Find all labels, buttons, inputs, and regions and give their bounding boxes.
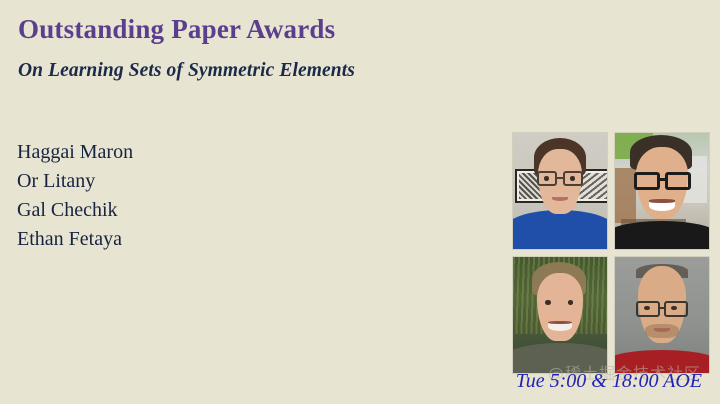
author-name: Or Litany: [17, 167, 133, 196]
author-name: Ethan Fetaya: [17, 225, 133, 254]
author-name: Haggai Maron: [17, 138, 133, 167]
page-title: Outstanding Paper Awards: [18, 14, 335, 45]
paper-title: On Learning Sets of Symmetric Elements: [18, 60, 355, 82]
session-time: Tue 5:00 & 18:00 AOE: [0, 370, 702, 393]
author-photo: [512, 256, 608, 374]
author-photo: [614, 132, 710, 250]
author-list: Haggai Maron Or Litany Gal Chechik Ethan…: [17, 138, 133, 254]
author-photo-grid: [512, 132, 706, 366]
author-photo: [614, 256, 710, 374]
author-name: Gal Chechik: [17, 196, 133, 225]
author-photo: [512, 132, 608, 250]
award-slide: Outstanding Paper Awards On Learning Set…: [0, 0, 720, 404]
